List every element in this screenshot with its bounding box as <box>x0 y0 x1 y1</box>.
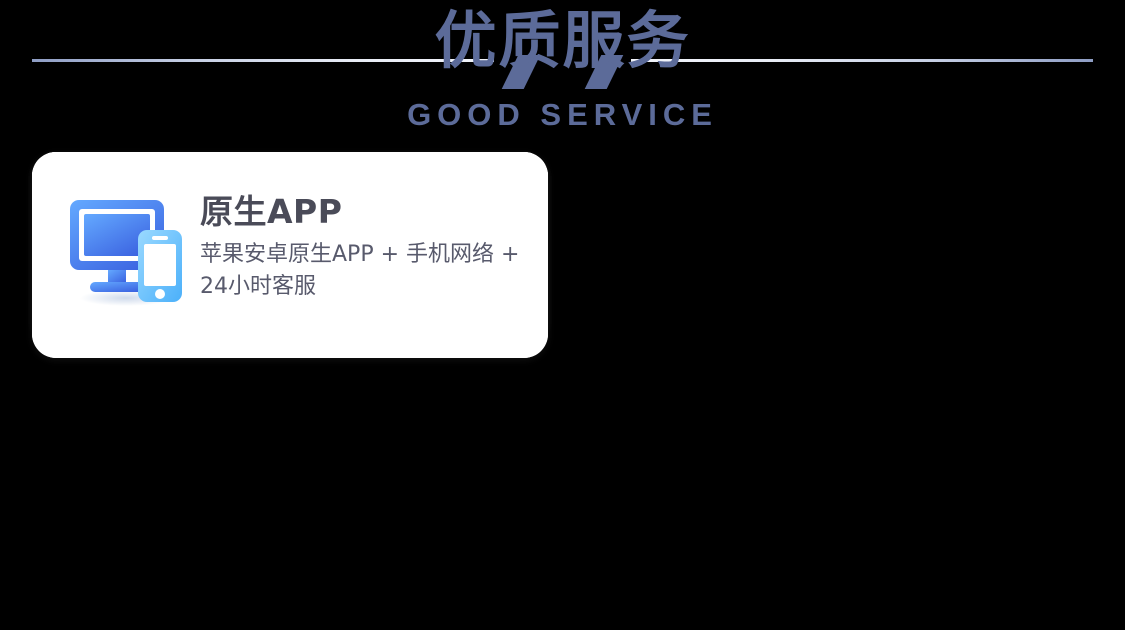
card-text-block: 原生APP 苹果安卓原生APP + 手机网络 + 24小时客服 <box>200 193 530 303</box>
service-card-native-app[interactable]: 原生APP 苹果安卓原生APP + 手机网络 + 24小时客服 <box>32 152 548 344</box>
page-header: 优质服务 GOOD SERVICE <box>0 0 1125 146</box>
card-subtitle: 苹果安卓原生APP + 手机网络 + 24小时客服 <box>200 239 530 303</box>
monitor-phone-icon <box>62 183 192 313</box>
page-subtitle: GOOD SERVICE <box>0 97 1125 133</box>
page-title: 优质服务 <box>0 8 1125 73</box>
card-title: 原生APP <box>200 193 530 231</box>
service-card-grid: 秒速存款 出款最快3秒完成 <box>32 152 1093 588</box>
